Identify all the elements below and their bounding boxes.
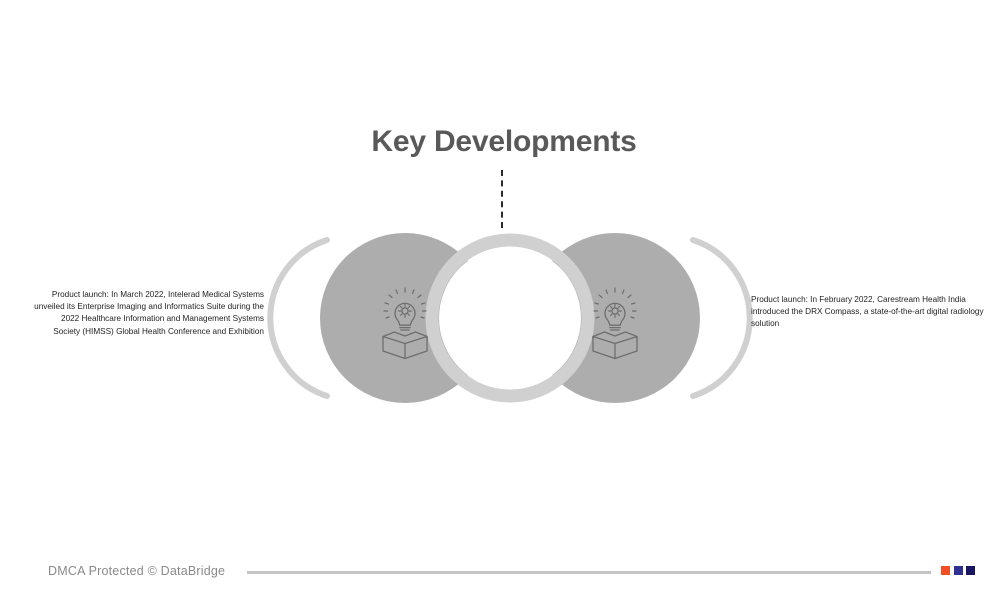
square-blue (954, 566, 963, 575)
outer-arc-right (693, 240, 750, 396)
description-text-right: Product launch: In February 2022, Carest… (751, 294, 996, 331)
footer-divider-rule (247, 571, 931, 574)
dashed-connector-line (501, 170, 503, 228)
description-text-left: Product launch: In March 2022, Intelerad… (34, 289, 264, 338)
footer-brand-squares (941, 566, 975, 576)
square-orange (941, 566, 950, 575)
square-navy (966, 566, 975, 575)
footer-copyright-text: DMCA Protected © DataBridge (48, 564, 225, 578)
key-developments-diagram (280, 222, 740, 414)
center-hub-fill (439, 247, 581, 389)
page-title: Key Developments (0, 123, 1008, 161)
slide-canvas: Key Developments (0, 0, 1008, 600)
outer-arc-left (270, 240, 327, 396)
